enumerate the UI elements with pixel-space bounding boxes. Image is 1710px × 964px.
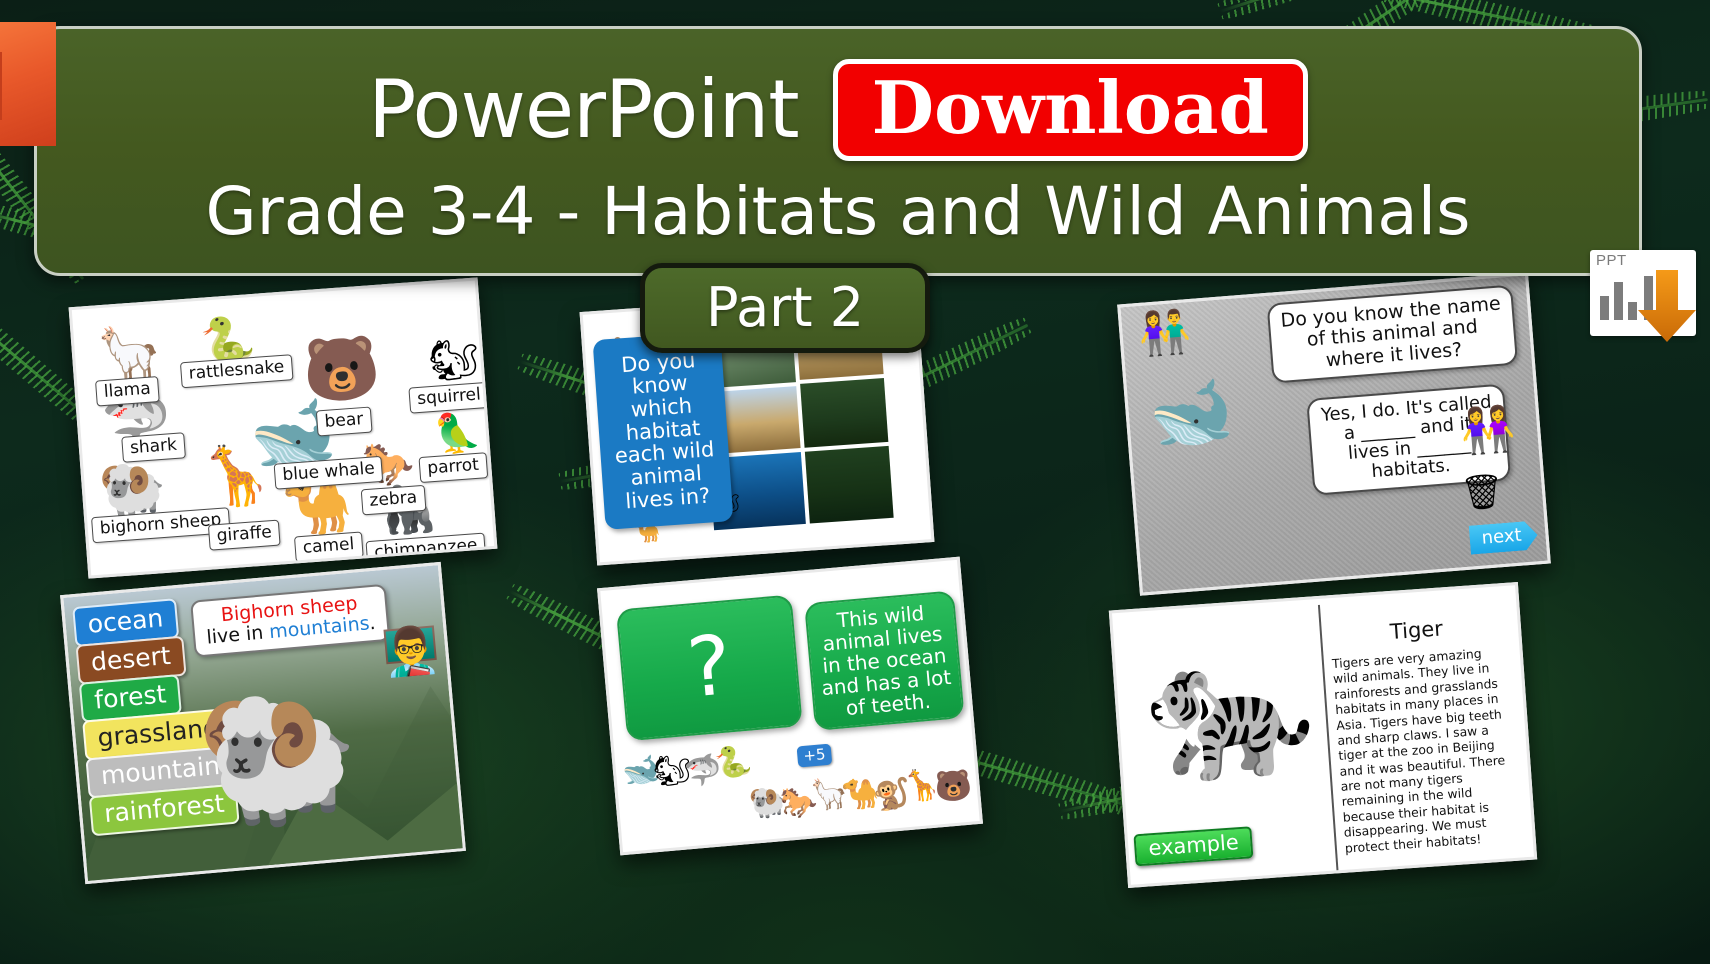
slide-thumbnail-guess-animal[interactable]: ? This wild animal lives in the ocean an… xyxy=(597,557,983,856)
teacher-characters-icon: 👨‍🏫 xyxy=(380,625,441,676)
page-title: PowerPoint xyxy=(368,70,799,150)
children-pair-icon: 👭 xyxy=(1459,407,1517,455)
whale-illustration: 🐋 xyxy=(1146,377,1236,451)
trash-can-icon[interactable]: 🗑 xyxy=(1460,474,1506,511)
animal-name-label[interactable]: giraffe xyxy=(208,520,281,551)
animal-illustration: 🐏 xyxy=(97,460,168,519)
chart-bar-icon xyxy=(1614,282,1623,320)
slide-2-content: oceandesertforestgrasslandmountainrainfo… xyxy=(63,565,462,881)
powerpoint-logo-letter: P xyxy=(0,52,2,120)
slide-thumbnail-habitat-sentence[interactable]: oceandesertforestgrasslandmountainrainfo… xyxy=(60,562,466,884)
question-text: Do you know which habitat each wild anim… xyxy=(600,347,727,513)
animal-illustration: 🦒 xyxy=(198,444,274,507)
slide-6-content: 🐅 Tiger Tigers are very amazing wild ani… xyxy=(1112,585,1534,885)
question-mark-glyph: ? xyxy=(684,621,735,715)
title-banner: PowerPoint Download Grade 3-4 - Habitats… xyxy=(34,26,1642,276)
slide-1-content: 🦙🐍🐻🐿🦈🐋🦜🐎🐏🦒🐪🦍 llamarattlesnakebearsquirre… xyxy=(72,281,494,576)
clue-text: This wild animal lives in the ocean and … xyxy=(815,600,954,721)
column-divider xyxy=(1318,605,1338,870)
bighorn-sheep-illustration: 🐏 xyxy=(192,683,365,827)
slide-thumbnail-animals[interactable]: 🦙🐍🐻🐿🦈🐋🦜🐎🐏🦒🐪🦍 llamarattlesnakebearsquirre… xyxy=(69,277,498,578)
habitat-sentence: Bighorn sheep live in mountains. xyxy=(206,592,377,648)
animal-strip: 🐋🐿🦈🐍🐏🐎🦙🐪🐒🦒🐻 xyxy=(600,560,957,591)
example-badge: example xyxy=(1133,826,1253,866)
ppt-tag-label: PPT xyxy=(1596,252,1627,269)
animal-name-label[interactable]: llama xyxy=(95,376,160,407)
animal-name-label[interactable]: rattlesnake xyxy=(180,354,293,388)
strip-animal-icon[interactable]: 🐍 xyxy=(714,747,754,780)
part-badge-label: Part 2 xyxy=(706,281,864,335)
next-label: next xyxy=(1481,525,1522,549)
question-text: Do you know the name of this animal and … xyxy=(1280,293,1502,371)
slide-4-content: ? This wild animal lives in the ocean an… xyxy=(600,560,979,852)
question-box: Do you know which habitat each wild anim… xyxy=(593,331,734,529)
title-row: PowerPoint Download xyxy=(37,59,1639,161)
slide-thumbnail-name-animal[interactable]: 👫 🐋 Do you know the name of this animal … xyxy=(1117,272,1551,595)
animal-name-label[interactable]: parrot xyxy=(418,452,487,483)
clue-card: This wild animal lives in the ocean and … xyxy=(804,590,965,731)
animal-glyph-layer: 🦙🐍🐻🐿🦈🐋🦜🐎🐏🦒🐪🦍 xyxy=(72,281,475,311)
animal-name-label[interactable]: shark xyxy=(121,432,186,463)
part-badge: Part 2 xyxy=(640,263,930,353)
page-subtitle: Grade 3-4 - Habitats and Wild Animals xyxy=(37,179,1639,245)
tiger-heading: Tiger xyxy=(1389,616,1443,644)
animal-name-label[interactable]: camel xyxy=(294,532,363,563)
habitat-photo-tile[interactable] xyxy=(805,446,894,524)
animal-name-label[interactable]: zebra xyxy=(361,485,426,516)
tiger-illustration: 🐅 xyxy=(1140,636,1318,783)
slide-thumbnail-tiger-example[interactable]: 🐅 Tiger Tigers are very amazing wild ani… xyxy=(1109,582,1537,888)
student-pair-icon: 👫 xyxy=(1137,310,1192,356)
animal-illustration: 🦜 xyxy=(433,413,483,454)
slide-5-content: 👫 🐋 Do you know the name of this animal … xyxy=(1120,276,1547,593)
sentence-part: . xyxy=(368,612,376,634)
chart-bar-icon xyxy=(1600,296,1609,320)
strip-animal-icon[interactable]: 🐻 xyxy=(933,770,973,803)
habitat-photo-tile[interactable] xyxy=(800,378,888,448)
question-mark-card: ? xyxy=(616,594,803,741)
sentence-part: live in xyxy=(206,621,271,648)
animal-label-layer: llamarattlesnakebearsquirrelsharkblue wh… xyxy=(72,281,475,311)
counter-badge: +5 xyxy=(797,744,833,768)
download-label: Download xyxy=(872,65,1269,150)
animal-name-label[interactable]: bear xyxy=(316,407,372,437)
powerpoint-logo-icon xyxy=(0,22,56,146)
ppt-download-icon[interactable]: PPT xyxy=(1590,250,1696,336)
animal-illustration: 🦙 xyxy=(95,326,163,383)
download-button[interactable]: Download xyxy=(833,59,1308,161)
poster-canvas: PowerPoint Download Grade 3-4 - Habitats… xyxy=(0,0,1710,964)
animal-illustration: 🐿 xyxy=(427,338,481,382)
tiger-paragraph: Tigers are very amazing wild animals. Th… xyxy=(1332,644,1522,856)
download-arrow-icon xyxy=(1634,268,1700,344)
